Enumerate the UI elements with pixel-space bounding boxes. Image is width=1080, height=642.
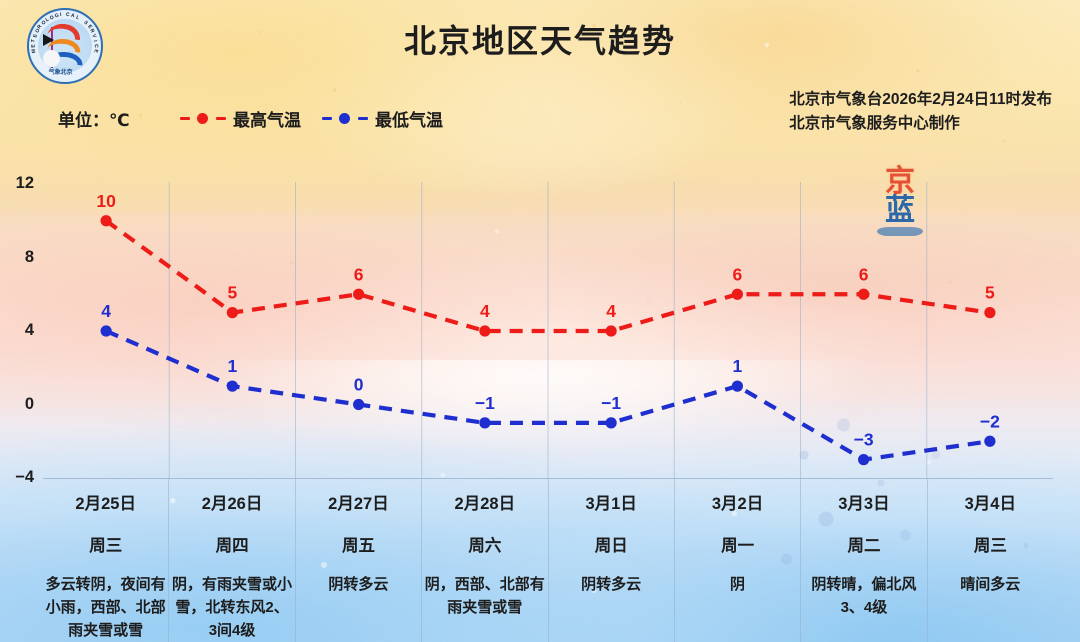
seal-character-1: 京 — [862, 168, 938, 197]
chart-series-high-temp: 105644665 — [96, 191, 995, 337]
forecast-column: 2月28日周六阴，西部、北部有雨夹雪或雪 — [421, 479, 547, 642]
y-axis-tick-label: 12 — [0, 174, 34, 193]
page-title: 北京地区天气趋势 — [0, 16, 1080, 62]
data-point-value-label: −3 — [854, 430, 874, 450]
forecast-weekday: 周五 — [342, 532, 375, 556]
data-point-marker — [858, 289, 869, 300]
data-point-marker — [732, 289, 743, 300]
forecast-description: 晴间多云 — [928, 574, 1053, 597]
forecast-table: 2月25日周三多云转阴，夜间有小雨，西部、北部雨夹雪或雪2月26日周四阴，有雨夹… — [43, 479, 1053, 642]
data-point-value-label: 10 — [96, 191, 116, 211]
forecast-date: 2月28日 — [455, 490, 516, 514]
legend-label-high-temp: 最高气温 — [233, 106, 301, 131]
data-point-value-label: 4 — [606, 301, 616, 321]
forecast-date: 2月26日 — [202, 490, 263, 514]
forecast-column: 2月25日周三多云转阴，夜间有小雨，西部、北部雨夹雪或雪 — [43, 479, 168, 642]
y-axis-tick-label: 4 — [0, 321, 34, 340]
forecast-weekday: 周一 — [721, 532, 754, 556]
forecast-date: 3月4日 — [965, 490, 1016, 514]
forecast-weekday: 周三 — [974, 532, 1007, 556]
forecast-column: 3月4日周三晴间多云 — [927, 479, 1053, 642]
data-point-value-label: 1 — [228, 356, 238, 376]
data-point-value-label: 6 — [733, 264, 743, 284]
forecast-date: 3月1日 — [586, 490, 637, 514]
chart-legend: 单位：℃ 最高气温 最低气温 — [0, 104, 1080, 134]
data-point-value-label: 4 — [101, 301, 111, 321]
seal-wave-icon — [877, 227, 923, 236]
data-point-value-label: 0 — [354, 375, 364, 395]
data-point-value-label: 4 — [480, 301, 490, 321]
forecast-column: 3月3日周二阴转晴，偏北风3、4级 — [800, 479, 926, 642]
forecast-date: 3月3日 — [838, 490, 889, 514]
forecast-date: 2月27日 — [328, 490, 389, 514]
legend-label-low-temp: 最低气温 — [375, 106, 443, 131]
chart-series-low-temp: 410−1−11−3−2 — [101, 301, 1001, 465]
data-point-marker — [984, 436, 995, 447]
forecast-column: 3月2日周一阴 — [674, 479, 800, 642]
seal-character-2: 蓝 — [862, 197, 938, 226]
data-point-marker — [479, 325, 490, 336]
forecast-description: 阴转多云 — [296, 574, 421, 597]
forecast-description: 阴，有雨夹雪或小雪，北转东风2、3间4级 — [169, 574, 294, 642]
y-axis-tick-label: −4 — [0, 468, 34, 487]
data-point-marker — [101, 215, 112, 226]
data-point-marker — [353, 399, 364, 410]
forecast-description: 阴 — [675, 574, 800, 597]
data-point-value-label: 6 — [859, 264, 869, 284]
data-point-marker — [227, 381, 238, 392]
data-point-marker — [479, 417, 490, 428]
unit-label: 单位：℃ — [58, 106, 130, 131]
legend-item-low-temp: 最低气温 — [322, 106, 443, 131]
forecast-description: 阴转多云 — [549, 574, 674, 597]
data-point-value-label: 5 — [985, 283, 995, 303]
forecast-weekday: 周二 — [847, 532, 880, 556]
legend-key-high-temp-icon — [180, 112, 226, 126]
forecast-weekday: 周六 — [468, 532, 501, 556]
forecast-weekday: 周日 — [595, 532, 628, 556]
data-point-value-label: 6 — [354, 264, 364, 284]
legend-key-low-temp-icon — [322, 112, 368, 126]
forecast-date: 3月2日 — [712, 490, 763, 514]
data-point-marker — [732, 381, 743, 392]
data-point-marker — [353, 289, 364, 300]
y-axis-tick-label: 0 — [0, 395, 34, 414]
data-point-marker — [984, 307, 995, 318]
forecast-description: 阴，西部、北部有雨夹雪或雪 — [422, 574, 547, 620]
data-point-marker — [101, 325, 112, 336]
legend-item-high-temp: 最高气温 — [180, 106, 301, 131]
forecast-column: 3月1日周日阴转多云 — [548, 479, 674, 642]
forecast-date: 2月25日 — [75, 490, 136, 514]
data-point-value-label: −1 — [601, 393, 621, 413]
data-point-marker — [606, 417, 617, 428]
data-point-marker — [858, 454, 869, 465]
data-point-marker — [606, 325, 617, 336]
forecast-weekday: 周三 — [89, 532, 122, 556]
forecast-column: 2月26日周四阴，有雨夹雪或小雪，北转东风2、3间4级 — [168, 479, 294, 642]
forecast-weekday: 周四 — [216, 532, 249, 556]
forecast-description: 多云转阴，夜间有小雨，西部、北部雨夹雪或雪 — [43, 574, 168, 642]
data-point-value-label: 1 — [733, 356, 743, 376]
forecast-description: 阴转晴，偏北风3、4级 — [801, 574, 926, 620]
data-point-value-label: −1 — [475, 393, 495, 413]
data-point-marker — [227, 307, 238, 318]
y-axis-tick-label: 8 — [0, 248, 34, 267]
data-point-value-label: 5 — [228, 283, 238, 303]
forecast-column: 2月27日周五阴转多云 — [295, 479, 421, 642]
seal-watermark: 京 蓝 — [862, 168, 938, 250]
data-point-value-label: −2 — [980, 411, 1000, 431]
